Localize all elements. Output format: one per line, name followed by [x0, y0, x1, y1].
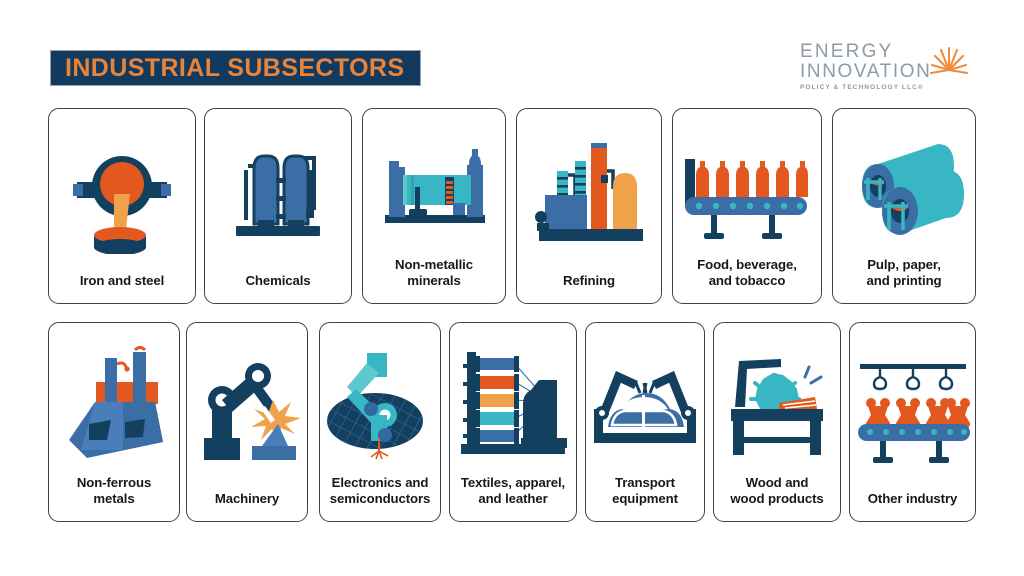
- card-non-metallic-minerals[interactable]: Non-metallicminerals: [362, 108, 506, 304]
- card-pulp-paper-printing[interactable]: Pulp, paper,and printing: [832, 108, 976, 304]
- subsector-card-grid: Iron and steel: [0, 0, 1024, 576]
- card-iron-and-steel[interactable]: Iron and steel: [48, 108, 196, 304]
- car-assembly-robots-icon: [586, 323, 704, 475]
- toy-conveyor-icon: [850, 323, 975, 491]
- loom-spools-icon: [450, 323, 576, 475]
- card-label: Non-ferrousmetals: [49, 475, 179, 521]
- card-label: Textiles, apparel,and leather: [450, 475, 576, 521]
- card-other-industry[interactable]: Other industry: [849, 322, 976, 522]
- card-label: Other industry: [850, 491, 975, 521]
- card-non-ferrous-metals[interactable]: Non-ferrousmetals: [48, 322, 180, 522]
- silicon-wafer-robot-icon: [320, 323, 440, 475]
- card-label: Non-metallicminerals: [363, 257, 505, 303]
- card-label: Transportequipment: [586, 475, 704, 521]
- card-label: Chemicals: [205, 273, 351, 303]
- ingot-casting-molds-icon: [49, 323, 179, 475]
- card-label: Pulp, paper,and printing: [833, 257, 975, 303]
- card-label: Electronics andsemiconductors: [320, 475, 440, 521]
- bottling-conveyor-icon: [673, 109, 821, 257]
- ladle-pouring-molten-metal-icon: [49, 109, 195, 273]
- paper-rolls-icon: [833, 109, 975, 257]
- card-transport-equipment[interactable]: Transportequipment: [585, 322, 705, 522]
- card-textiles-apparel-leather[interactable]: Textiles, apparel,and leather: [449, 322, 577, 522]
- refinery-towers-icon: [517, 109, 661, 273]
- card-wood-and-wood-products[interactable]: Wood andwood products: [713, 322, 841, 522]
- card-electronics-semiconductors[interactable]: Electronics andsemiconductors: [319, 322, 441, 522]
- chemical-tanks-icon: [205, 109, 351, 273]
- card-label: Iron and steel: [49, 273, 195, 303]
- welding-robot-arm-icon: [187, 323, 307, 491]
- infographic-page: INDUSTRIAL SUBSECTORS ENERGY INNOVATION …: [0, 0, 1024, 576]
- card-refining[interactable]: Refining: [516, 108, 662, 304]
- card-label: Wood andwood products: [714, 475, 840, 521]
- card-label: Food, beverage,and tobacco: [673, 257, 821, 303]
- card-food-beverage-tobacco[interactable]: Food, beverage,and tobacco: [672, 108, 822, 304]
- card-machinery[interactable]: Machinery: [186, 322, 308, 522]
- card-chemicals[interactable]: Chemicals: [204, 108, 352, 304]
- table-saw-icon: [714, 323, 840, 475]
- card-label: Refining: [517, 273, 661, 303]
- card-label: Machinery: [187, 491, 307, 521]
- rotary-kiln-icon: [363, 109, 505, 257]
